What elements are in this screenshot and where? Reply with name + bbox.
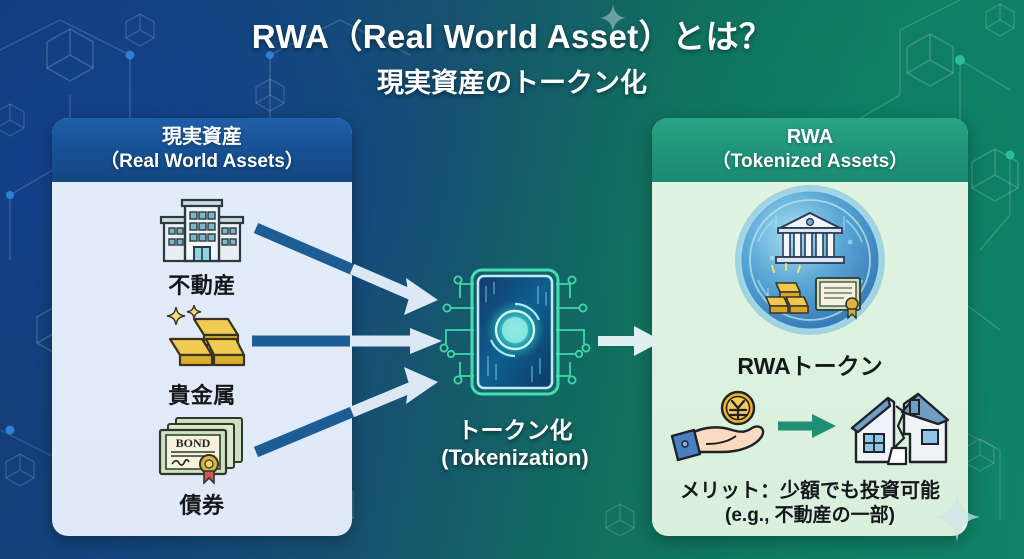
rwa-token-label: RWAトークン bbox=[652, 347, 968, 381]
infographic-canvas: RWA（Real World Asset）とは？ 現実資産のトークン化 現実資産… bbox=[0, 0, 1024, 559]
left-panel-header-line2: （Real World Assets） bbox=[58, 151, 346, 173]
title-main: RWA（Real World Asset）とは？ bbox=[0, 18, 1024, 57]
rwa-token-block: RWAトークン bbox=[652, 180, 968, 381]
asset-item-precious-metals: 貴金属 bbox=[112, 304, 292, 410]
office-building-icon bbox=[112, 194, 292, 266]
right-panel-header-line2: （Tokenized Assets） bbox=[658, 151, 962, 173]
hand-with-yen-coin-icon bbox=[672, 392, 763, 460]
merit-block: メリット：少額でも投資可能 (e.g., 不動産の一部) bbox=[652, 386, 968, 528]
left-panel-header-line1: 現実資産 bbox=[58, 126, 346, 150]
asset-label: 貴金属 bbox=[112, 378, 292, 410]
page-title: RWA（Real World Asset）とは？ 現実資産のトークン化 bbox=[0, 18, 1024, 100]
asset-label: 債券 bbox=[112, 488, 292, 520]
asset-label: 不動産 bbox=[112, 268, 292, 300]
bond-certificate-icon: BOND bbox=[112, 414, 292, 486]
merit-text: メリット：少額でも投資可能 (e.g., 不動産の一部) bbox=[652, 479, 968, 528]
tokenization-chip-icon bbox=[420, 258, 610, 408]
gold-bars-icon bbox=[112, 304, 292, 376]
fractional-house-icon bbox=[852, 394, 948, 464]
merit-text-line2: (e.g., 不動産の一部) bbox=[652, 504, 968, 528]
asset-item-bond: BOND 債券 bbox=[112, 414, 292, 520]
merit-text-line1: メリット：少額でも投資可能 bbox=[652, 479, 968, 504]
bond-certificate-text: BOND bbox=[176, 436, 211, 450]
sparkle-icon bbox=[934, 492, 980, 542]
teal-arrow-right-icon bbox=[778, 414, 836, 438]
left-panel-body: 現実資産 （Real World Assets） bbox=[52, 118, 352, 536]
left-panel-header: 現実資産 （Real World Assets） bbox=[52, 118, 352, 182]
real-world-assets-panel: 現実資産 （Real World Assets） bbox=[52, 118, 352, 536]
tokenization-label-line1: トークン化 bbox=[420, 417, 610, 445]
right-panel-header-line1: RWA bbox=[658, 126, 962, 150]
tokenization-block: トークン化 (Tokenization) bbox=[420, 258, 610, 471]
tokenization-label: トークン化 (Tokenization) bbox=[420, 417, 610, 471]
merit-illustration bbox=[660, 386, 960, 472]
title-subtitle: 現実資産のトークン化 bbox=[0, 61, 1024, 100]
rwa-tokenized-assets-panel: RWA （Tokenized Assets） bbox=[652, 118, 968, 536]
right-panel-body: RWA （Tokenized Assets） bbox=[652, 118, 968, 536]
right-panel-header: RWA （Tokenized Assets） bbox=[652, 118, 968, 182]
tokenization-label-line2: (Tokenization) bbox=[420, 445, 610, 471]
rwa-token-coin-icon bbox=[730, 180, 890, 340]
asset-item-real-estate: 不動産 bbox=[112, 194, 292, 300]
